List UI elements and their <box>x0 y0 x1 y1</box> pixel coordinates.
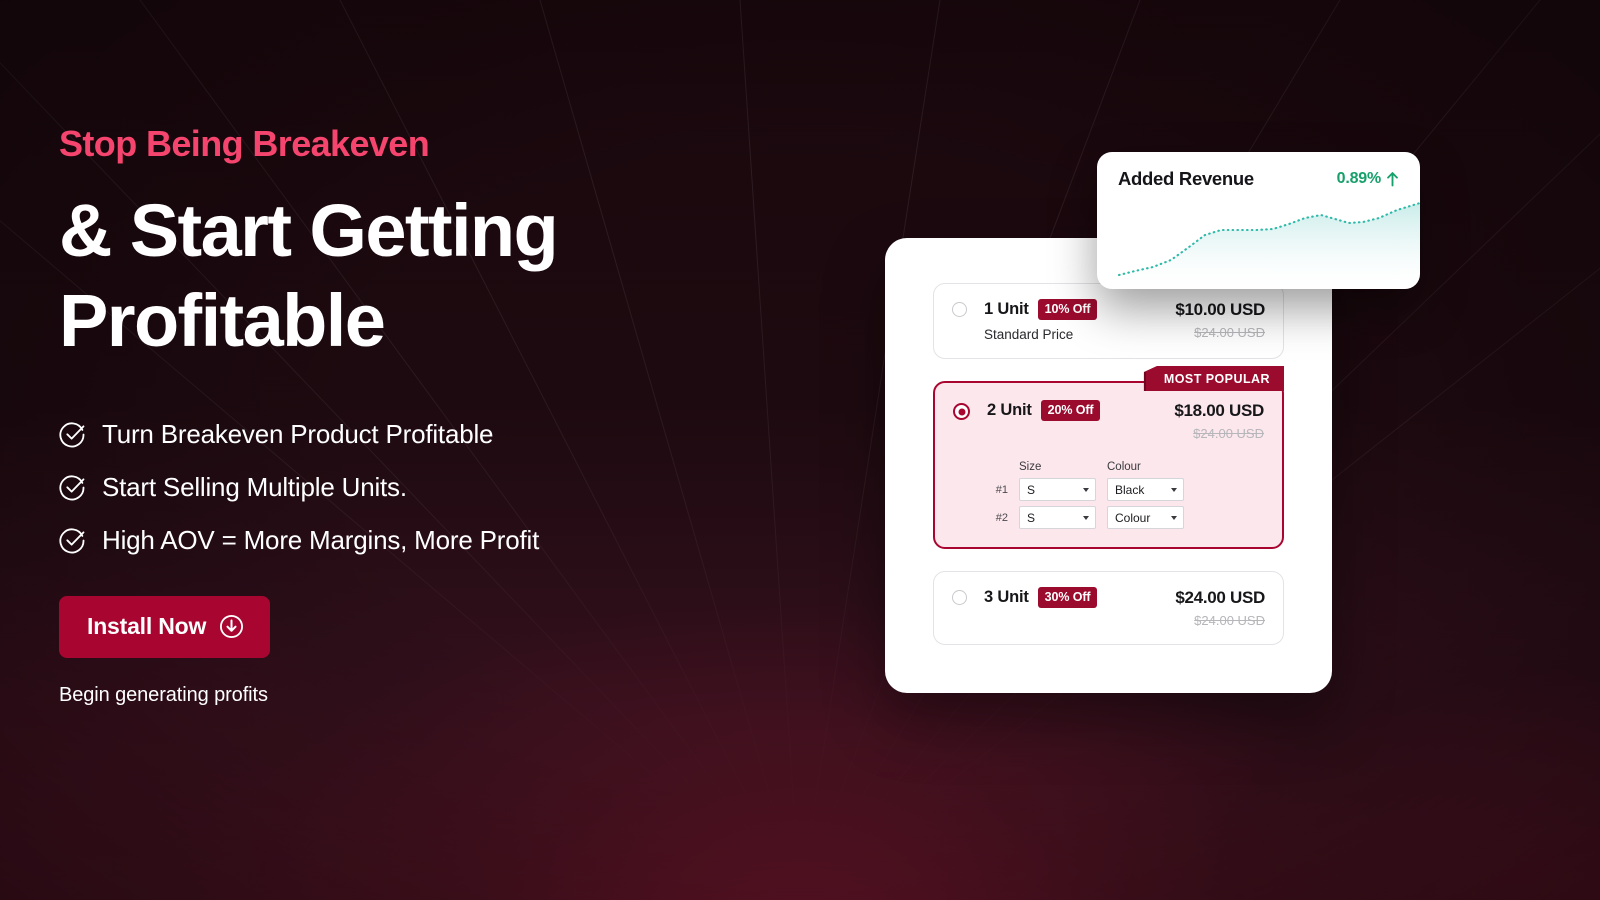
radio-1-unit[interactable] <box>952 302 967 317</box>
size-select-1-value: S <box>1027 483 1035 497</box>
feature-label: High AOV = More Margins, More Profit <box>102 525 539 556</box>
option-unit-label: 2 Unit <box>987 401 1032 420</box>
headline-line-2: Profitable <box>59 279 384 362</box>
pricing-option-1-unit[interactable]: 1 Unit 10% Off Standard Price $10.00 USD… <box>933 283 1284 359</box>
radio-3-unit[interactable] <box>952 590 967 605</box>
colour-select-2-value: Colour <box>1115 511 1150 525</box>
added-revenue-card: Added Revenue 0.89% <box>1097 152 1420 289</box>
colour-select-2[interactable]: Colour <box>1107 506 1184 529</box>
variant-row-2: #2 S Colour <box>991 506 1264 529</box>
discount-badge: 10% Off <box>1038 299 1098 320</box>
colour-select-1-value: Black <box>1115 483 1144 497</box>
pricing-card: 1 Unit 10% Off Standard Price $10.00 USD… <box>885 238 1332 693</box>
download-circle-icon <box>219 614 244 639</box>
cta-section: Install Now Begin generating profits <box>59 596 759 707</box>
size-select-2-value: S <box>1027 511 1035 525</box>
install-now-button[interactable]: Install Now <box>59 596 270 658</box>
option-subtitle: Standard Price <box>984 327 1175 342</box>
check-circle-icon <box>59 527 86 554</box>
pricing-option-3-unit[interactable]: 3 Unit 30% Off $24.00 USD $24.00 USD <box>933 571 1284 645</box>
chevron-down-icon <box>1083 516 1089 520</box>
variant-header-size: Size <box>1019 461 1096 473</box>
option-compare-price: $24.00 USD <box>1175 325 1265 340</box>
chevron-down-icon <box>1083 488 1089 492</box>
option-unit-label: 3 Unit <box>984 588 1029 607</box>
discount-badge: 20% Off <box>1041 400 1101 421</box>
pricing-option-2-unit[interactable]: MOST POPULAR 2 Unit 20% Off $18.00 USD $… <box>933 381 1284 549</box>
check-circle-icon <box>59 474 86 501</box>
option-compare-price: $24.00 USD <box>1174 426 1264 441</box>
option-unit-label: 1 Unit <box>984 300 1029 319</box>
hero-banner: Stop Being Breakeven & Start Getting Pro… <box>0 0 1600 900</box>
delta-value: 0.89% <box>1337 170 1381 188</box>
status-badge: 0.89% <box>1337 170 1399 188</box>
list-item: Start Selling Multiple Units. <box>59 472 759 503</box>
feature-label: Start Selling Multiple Units. <box>102 472 407 503</box>
variant-headers: Size Colour <box>1019 461 1264 473</box>
pricing-options-list: 1 Unit 10% Off Standard Price $10.00 USD… <box>933 283 1284 645</box>
hero-eyebrow: Stop Being Breakeven <box>59 126 759 162</box>
list-item: High AOV = More Margins, More Profit <box>59 525 759 556</box>
option-price: $18.00 USD <box>1174 401 1264 421</box>
hero-content: Stop Being Breakeven & Start Getting Pro… <box>59 126 759 707</box>
option-compare-price: $24.00 USD <box>1175 613 1265 628</box>
variant-selector-group: Size Colour #1 S Black <box>953 461 1264 529</box>
chevron-down-icon <box>1171 516 1177 520</box>
check-circle-icon <box>59 421 86 448</box>
most-popular-ribbon: MOST POPULAR <box>1144 366 1284 391</box>
option-price: $10.00 USD <box>1175 300 1265 320</box>
radio-2-unit[interactable] <box>953 403 970 420</box>
revenue-area-chart <box>1097 197 1420 289</box>
variant-header-colour: Colour <box>1107 461 1184 473</box>
variant-index: #2 <box>991 512 1008 524</box>
colour-select-1[interactable]: Black <box>1107 478 1184 501</box>
page-title: & Start Getting Profitable <box>59 186 759 365</box>
chevron-down-icon <box>1171 488 1177 492</box>
size-select-2[interactable]: S <box>1019 506 1096 529</box>
list-item: Turn Breakeven Product Profitable <box>59 419 759 450</box>
arrow-up-icon <box>1386 171 1399 187</box>
install-now-label: Install Now <box>87 613 206 640</box>
added-revenue-title: Added Revenue <box>1118 168 1254 190</box>
cta-subtext: Begin generating profits <box>59 684 759 707</box>
headline-line-1: & Start Getting <box>59 189 557 272</box>
size-select-1[interactable]: S <box>1019 478 1096 501</box>
discount-badge: 30% Off <box>1038 587 1098 608</box>
feature-label: Turn Breakeven Product Profitable <box>102 419 493 450</box>
feature-list: Turn Breakeven Product Profitable Start … <box>59 419 759 556</box>
variant-row-1: #1 S Black <box>991 478 1264 501</box>
variant-index: #1 <box>991 484 1008 496</box>
option-price: $24.00 USD <box>1175 588 1265 608</box>
